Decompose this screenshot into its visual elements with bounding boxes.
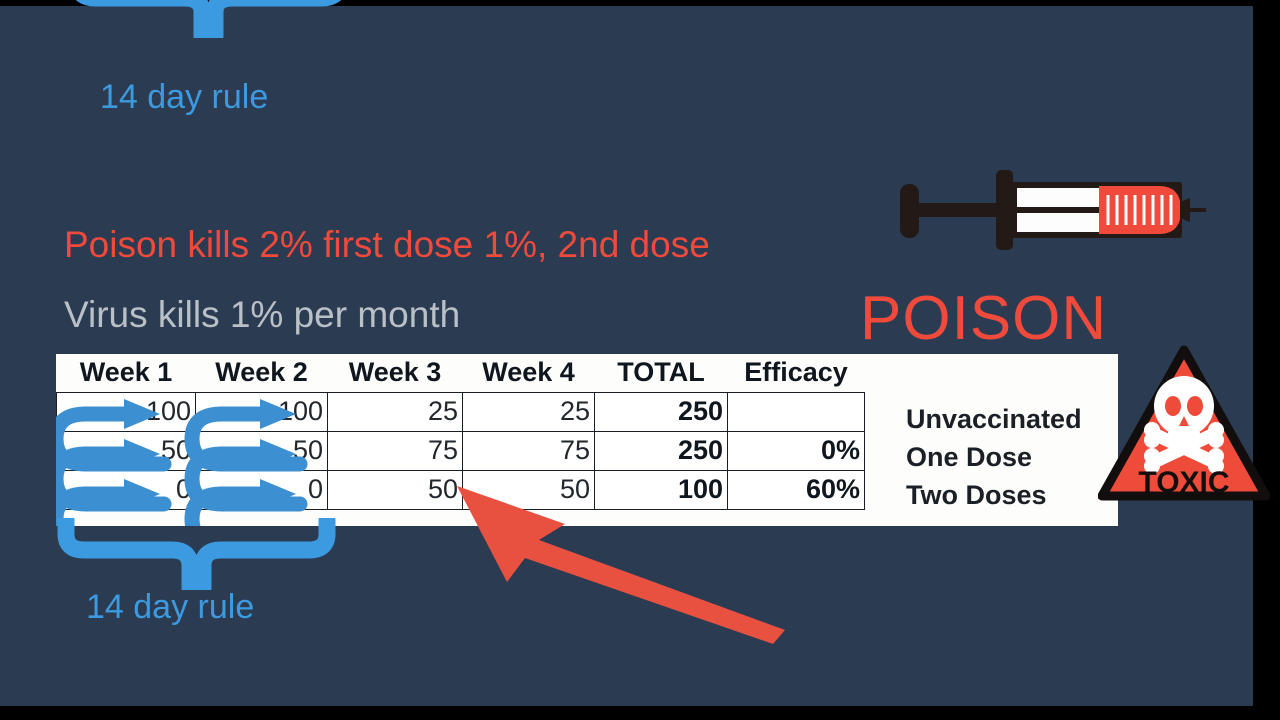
table-row: 50 50 75 75 250 0% bbox=[57, 432, 865, 471]
cell-twodoses-week1: 0 bbox=[57, 471, 196, 510]
table-row-legend: Unvaccinated One Dose Two Doses bbox=[906, 400, 1116, 514]
col-header-total: TOTAL bbox=[595, 354, 728, 393]
slide-canvas: 14 day rule Poison kills 2% first dose 1… bbox=[0, 6, 1253, 706]
efficacy-table: Week 1 Week 2 Week 3 Week 4 TOTAL Effica… bbox=[56, 354, 865, 510]
brace-top-label: 14 day rule bbox=[100, 78, 268, 117]
cell-twodoses-week2: 0 bbox=[196, 471, 328, 510]
data-table-panel: Week 1 Week 2 Week 3 Week 4 TOTAL Effica… bbox=[56, 354, 1118, 526]
table-grid-wrap: Week 1 Week 2 Week 3 Week 4 TOTAL Effica… bbox=[56, 354, 864, 510]
cell-onedose-efficacy: 0% bbox=[728, 432, 865, 471]
legend-item-unvaccinated: Unvaccinated bbox=[906, 400, 1116, 438]
cell-twodoses-efficacy: 60% bbox=[728, 471, 865, 510]
cell-onedose-week1: 50 bbox=[57, 432, 196, 471]
col-header-week4: Week 4 bbox=[463, 354, 595, 393]
virus-kills-text: Virus kills 1% per month bbox=[64, 294, 460, 336]
cell-unvaccinated-week2: 100 bbox=[196, 393, 328, 432]
letterbox-bottom bbox=[0, 706, 1253, 720]
legend-item-two-doses: Two Doses bbox=[906, 476, 1116, 514]
toxic-warning-icon: TOXIC bbox=[1098, 344, 1270, 504]
col-header-efficacy: Efficacy bbox=[728, 354, 865, 393]
brace-bottom bbox=[54, 518, 339, 590]
cell-twodoses-week3: 50 bbox=[328, 471, 463, 510]
cell-onedose-week2: 50 bbox=[196, 432, 328, 471]
cell-unvaccinated-week3: 25 bbox=[328, 393, 463, 432]
table-header-row: Week 1 Week 2 Week 3 Week 4 TOTAL Effica… bbox=[57, 354, 865, 393]
cell-onedose-week3: 75 bbox=[328, 432, 463, 471]
brace-top bbox=[66, 0, 351, 38]
cell-twodoses-total: 100 bbox=[595, 471, 728, 510]
toxic-label: TOXIC bbox=[1138, 466, 1229, 499]
cell-onedose-total: 250 bbox=[595, 432, 728, 471]
brace-bottom-label: 14 day rule bbox=[86, 588, 254, 627]
cell-unvaccinated-total: 250 bbox=[595, 393, 728, 432]
cell-onedose-week4: 75 bbox=[463, 432, 595, 471]
cell-unvaccinated-week1: 100 bbox=[57, 393, 196, 432]
col-header-week1: Week 1 bbox=[57, 354, 196, 393]
cell-unvaccinated-efficacy bbox=[728, 393, 865, 432]
poison-kills-text: Poison kills 2% first dose 1%, 2nd dose bbox=[64, 224, 710, 266]
syringe-icon bbox=[896, 158, 1206, 263]
table-row: 100 100 25 25 250 bbox=[57, 393, 865, 432]
table-row: 0 0 50 50 100 60% bbox=[57, 471, 865, 510]
col-header-week2: Week 2 bbox=[196, 354, 328, 393]
col-header-week3: Week 3 bbox=[328, 354, 463, 393]
slide-stage: 14 day rule Poison kills 2% first dose 1… bbox=[0, 0, 1280, 720]
cell-unvaccinated-week4: 25 bbox=[463, 393, 595, 432]
legend-item-one-dose: One Dose bbox=[906, 438, 1116, 476]
poison-word-text: POISON bbox=[860, 283, 1107, 354]
cell-twodoses-week4: 50 bbox=[463, 471, 595, 510]
